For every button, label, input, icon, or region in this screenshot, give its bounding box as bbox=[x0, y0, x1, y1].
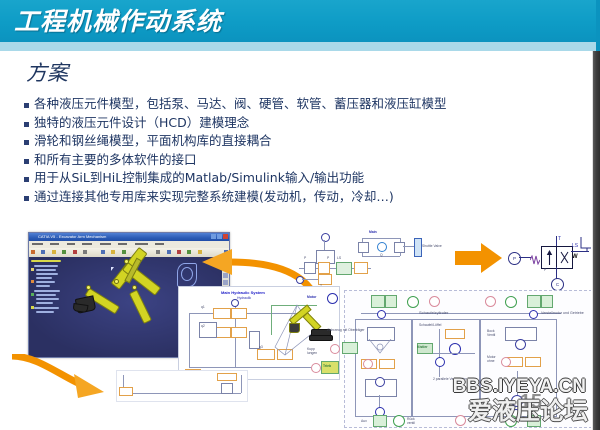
cad-titlebar: CATIA V5 - Excavator Arm Mechanism bbox=[29, 233, 229, 241]
list-item-label: 各种液压元件模型，包括泵、马达、阀、硬管、软管、蓄压器和液压缸模型 bbox=[34, 96, 447, 111]
menu-item[interactable] bbox=[50, 243, 59, 245]
slide-right-edge bbox=[591, 51, 600, 430]
valve-port-t-label: T bbox=[558, 237, 561, 241]
toolbar-icon[interactable] bbox=[122, 250, 126, 254]
menu-item[interactable] bbox=[82, 243, 92, 245]
schematic-bottom-left bbox=[116, 370, 248, 402]
header-right-cap bbox=[596, 0, 600, 51]
valve-symbol: P T LS W C P bbox=[508, 236, 592, 292]
list-item-label: 通过连接其他专用库来实现完整系统建模(发动机，传动，冷却…) bbox=[34, 189, 394, 204]
menu-item[interactable] bbox=[100, 243, 111, 245]
menu-item[interactable] bbox=[118, 243, 127, 245]
toolbar-icon[interactable] bbox=[31, 250, 35, 254]
bullet-square-icon bbox=[24, 140, 29, 145]
menu-item[interactable] bbox=[32, 243, 43, 245]
menu-item[interactable] bbox=[67, 243, 75, 245]
schematic-label-kistler: Kistler bbox=[417, 345, 428, 349]
toolbar-icon[interactable] bbox=[167, 250, 171, 254]
schematic-label-pump: Schaufel/Löffel bbox=[419, 323, 441, 327]
curved-arrow-icon-2 bbox=[8, 354, 116, 402]
valve-spool-box bbox=[541, 246, 573, 269]
spring-icon bbox=[530, 252, 540, 262]
toolbar-icon[interactable] bbox=[156, 250, 160, 254]
toolbar-icon[interactable] bbox=[83, 250, 87, 254]
schematic-label-vehicle: Fahrzeug mit Oberträger bbox=[322, 328, 370, 332]
menu-item[interactable] bbox=[135, 243, 148, 245]
list-item-label: 滑轮和钢丝绳模型，平面机构库的直接耦合 bbox=[34, 133, 272, 148]
window-controls[interactable] bbox=[211, 234, 228, 239]
schematic-label-right: Verstellmotor und Getriebe bbox=[541, 311, 585, 315]
schematic-label-center: Schaufelzylinder bbox=[419, 311, 448, 315]
schematic-label-motor: Motor bbox=[307, 295, 316, 299]
valve-port-p-label: P bbox=[508, 252, 521, 265]
toolbar-icon[interactable] bbox=[41, 250, 45, 254]
toolbar-icon[interactable] bbox=[52, 250, 56, 254]
section-subtitle: 方案 bbox=[26, 57, 68, 87]
header-accent-strip bbox=[0, 42, 600, 51]
schematic-top-left: P P LS T Main Shuttle Valve Q bbox=[296, 228, 456, 290]
maximize-icon[interactable] bbox=[217, 234, 222, 239]
close-icon[interactable] bbox=[223, 234, 228, 239]
valve-port-ls-label: LS bbox=[572, 244, 578, 248]
bullet-list: 各种液压元件模型，包括泵、马达、阀、硬管、软管、蓄压器和液压缸模型 独特的液压元… bbox=[24, 96, 584, 207]
bullet-square-icon bbox=[24, 122, 29, 127]
menu-item[interactable] bbox=[155, 243, 164, 245]
list-item: 通过连接其他专用库来实现完整系统建模(发动机，传动，冷却…) bbox=[24, 189, 584, 204]
list-item: 各种液压元件模型，包括泵、马达、阀、硬管、软管、蓄压器和液压缸模型 bbox=[24, 96, 584, 111]
minimize-icon[interactable] bbox=[211, 234, 216, 239]
list-item: 滑轮和钢丝绳模型，平面机构库的直接耦合 bbox=[24, 133, 584, 148]
toolbar-icon[interactable] bbox=[62, 250, 66, 254]
bullet-square-icon bbox=[24, 177, 29, 182]
schematic-label-aux: Aux bbox=[361, 419, 367, 423]
list-item-label: 和所有主要的多体软件的接口 bbox=[34, 152, 197, 167]
list-item-label: 独特的液压元件设计（HCD）建模理念 bbox=[34, 115, 249, 130]
bullet-square-icon bbox=[24, 159, 29, 164]
list-item: 用于从SiL到HiL控制集成的Matlab/Simulink输入/输出功能 bbox=[24, 170, 584, 185]
valve-port-w-label: W bbox=[572, 255, 578, 259]
bullet-square-icon bbox=[24, 103, 29, 108]
cursor-icon bbox=[111, 267, 114, 271]
toolbar-icon[interactable] bbox=[101, 250, 105, 254]
cad-specification-tree[interactable] bbox=[29, 257, 67, 357]
bullet-square-icon bbox=[24, 196, 29, 201]
slide: 工程机械作动系统 方案 各种液压元件模型，包括泵、马达、阀、硬管、软管、蓄压器和… bbox=[0, 0, 600, 430]
list-item: 和所有主要的多体软件的接口 bbox=[24, 152, 584, 167]
toolbar-icon[interactable] bbox=[73, 250, 77, 254]
page-title: 工程机械作动系统 bbox=[14, 2, 222, 38]
list-item-label: 用于从SiL到HiL控制集成的Matlab/Simulink输入/输出功能 bbox=[34, 170, 364, 185]
toolbar-icon[interactable] bbox=[111, 250, 115, 254]
block-arrow-icon bbox=[455, 241, 503, 275]
list-item: 独特的液压元件设计（HCD）建模理念 bbox=[24, 115, 584, 130]
watermark-chinese: 爱液压论坛 bbox=[468, 391, 588, 426]
cad-window-title: CATIA V5 - Excavator Arm Mechanism bbox=[38, 234, 106, 239]
schematic-title: Main Hydraulic System bbox=[221, 290, 265, 295]
excavator-thumbnail bbox=[289, 309, 331, 343]
